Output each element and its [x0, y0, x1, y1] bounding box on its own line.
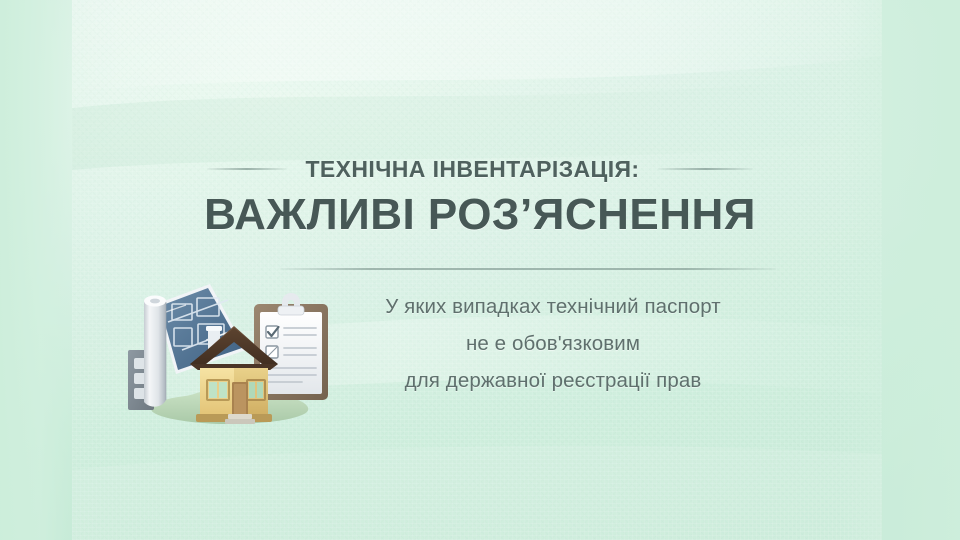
eyebrow-row: ТЕХНІЧНА ІНВЕНТАРІЗАЦІЯ: — [0, 152, 960, 186]
page-title: ВАЖЛИВІ РОЗ’ЯСНЕННЯ — [0, 190, 960, 240]
subtitle-line-2: не е обов'язковим — [318, 325, 788, 362]
rolled-blueprint-icon — [144, 296, 166, 407]
subtitle-line-3: для державної реєстрації прав — [318, 362, 788, 399]
eyebrow-rule-right — [658, 168, 753, 170]
background-margins — [0, 0, 960, 540]
eyebrow-text: ТЕХНІЧНА ІНВЕНТАРІЗАЦІЯ: — [305, 156, 639, 183]
eyebrow-rule-left — [207, 168, 287, 170]
technical-inventory-illustration — [122, 278, 342, 430]
subtitle-block: У яких випадках технічний паспорт не е о… — [318, 288, 788, 399]
title-divider — [280, 268, 776, 270]
slide-canvas: ТЕХНІЧНА ІНВЕНТАРІЗАЦІЯ: ВАЖЛИВІ РОЗ’ЯСН… — [0, 0, 960, 540]
subtitle-line-1: У яких випадках технічний паспорт — [318, 288, 788, 325]
